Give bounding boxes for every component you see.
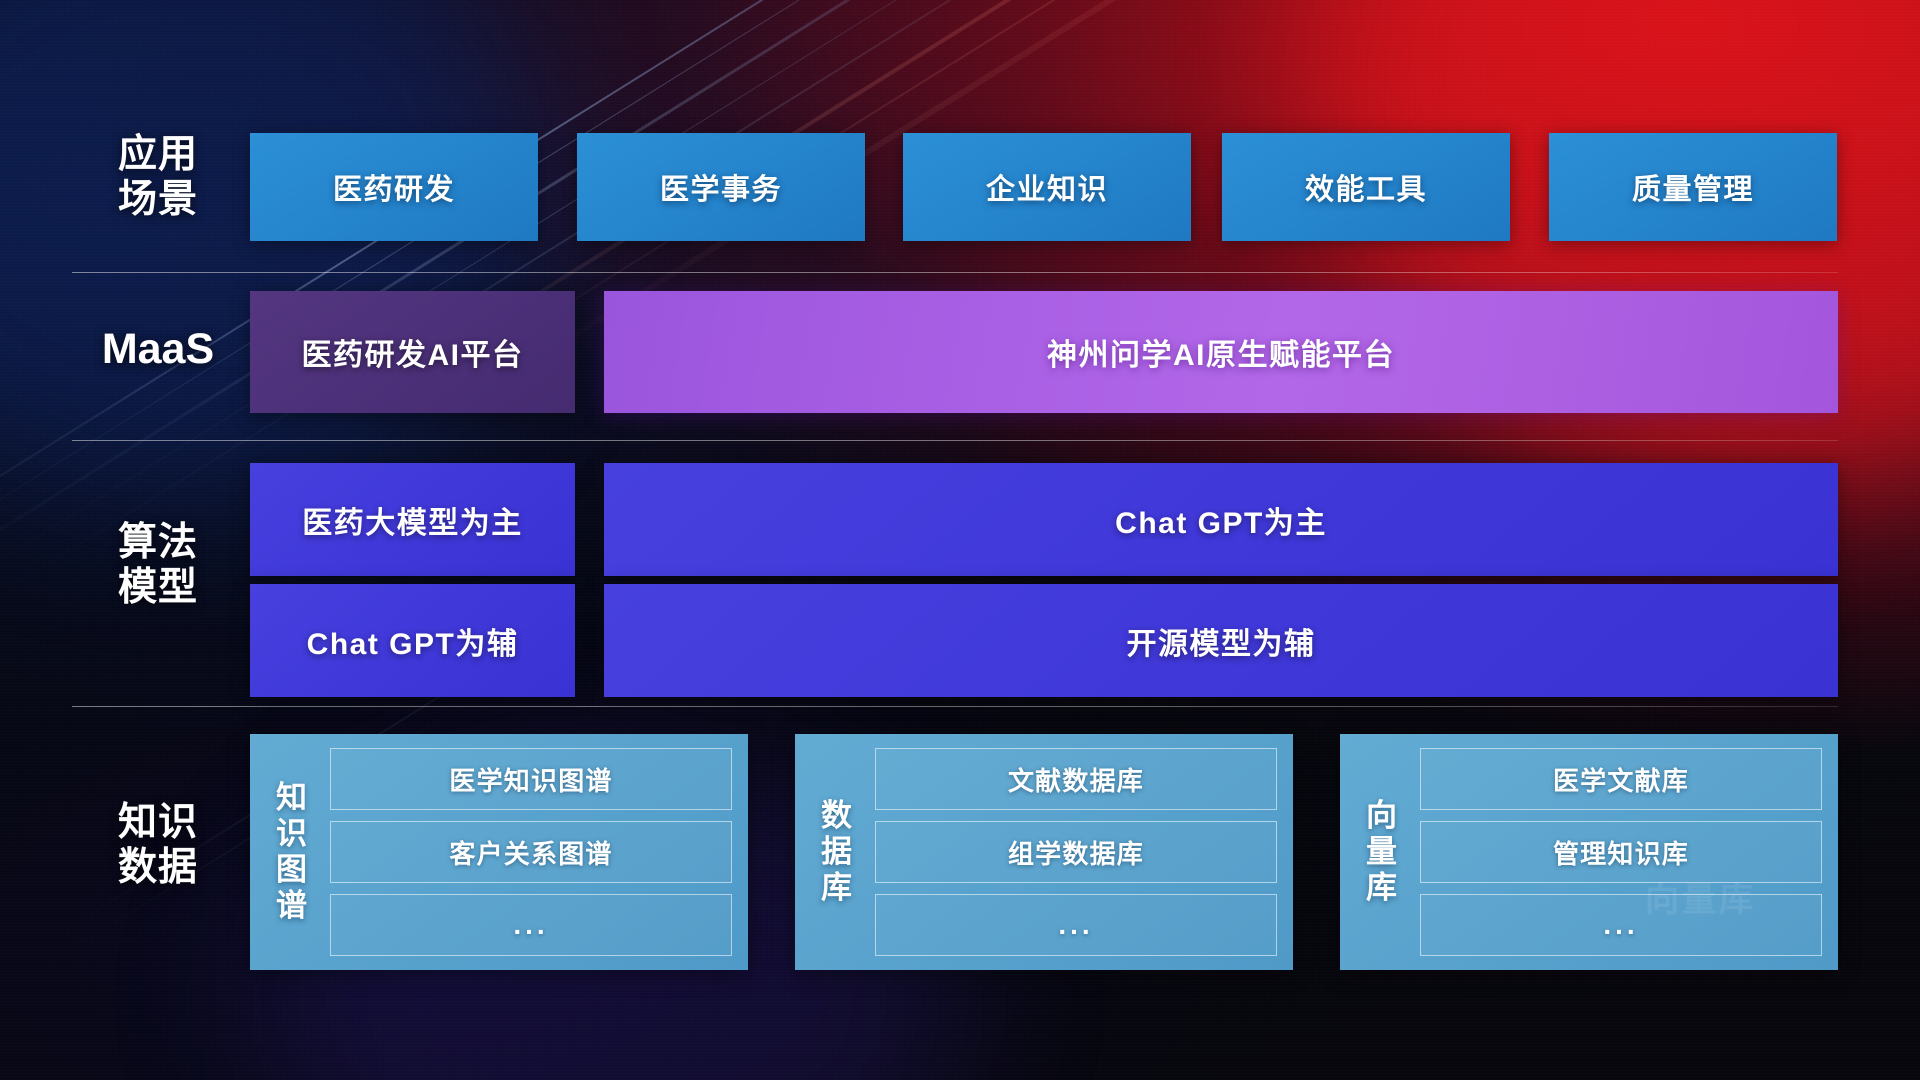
vlabel-char: 谱 [276,888,308,924]
algo-card-secondary-wide[interactable]: 开源模型为辅 [604,584,1838,697]
row-label-application-line1: 应用 [78,132,238,177]
knowledge-item-more[interactable]: ... [1420,894,1822,956]
row-label-application: 应用 场景 [78,132,238,222]
vlabel-char: 知 [276,780,308,816]
row-label-knowledge-line1: 知识 [78,800,238,845]
row-label-knowledge: 知识 数据 [78,800,238,890]
vlabel-char: 图 [276,852,308,888]
knowledge-panel-vector[interactable]: 向 量 库 医学文献库 管理知识库 ... [1340,734,1838,970]
app-card-1[interactable]: 医药研发 [250,133,538,241]
app-card-4[interactable]: 效能工具 [1222,133,1510,241]
vlabel-char: 向 [1366,798,1398,834]
vlabel-char: 据 [821,834,853,870]
app-card-3[interactable]: 企业知识 [903,133,1191,241]
algo-card-primary-wide[interactable]: Chat GPT为主 [604,463,1838,576]
maas-platform-card[interactable]: 医药研发AI平台 [250,291,575,413]
knowledge-item[interactable]: 客户关系图谱 [330,821,732,883]
knowledge-panel-vector-items: 医学文献库 管理知识库 ... [1414,748,1822,956]
knowledge-item-more[interactable]: ... [875,894,1277,956]
knowledge-panel-database-label: 数 据 库 [805,798,869,906]
algo-card-primary-left[interactable]: 医药大模型为主 [250,463,575,576]
vlabel-char: 识 [276,816,308,852]
knowledge-panel-graph[interactable]: 知 识 图 谱 医学知识图谱 客户关系图谱 ... [250,734,748,970]
knowledge-item-more[interactable]: ... [330,894,732,956]
app-card-2[interactable]: 医学事务 [577,133,865,241]
architecture-diagram-canvas: 应用 场景 医药研发 医学事务 企业知识 效能工具 质量管理 MaaS 医药研发… [0,0,1920,1080]
row-label-algorithm-line1: 算法 [78,520,238,565]
knowledge-panel-graph-items: 医学知识图谱 客户关系图谱 ... [324,748,732,956]
app-card-5[interactable]: 质量管理 [1549,133,1837,241]
knowledge-item[interactable]: 组学数据库 [875,821,1277,883]
row-divider-3 [72,706,1838,707]
row-label-knowledge-line2: 数据 [78,845,238,890]
knowledge-panel-graph-label: 知 识 图 谱 [260,780,324,924]
algo-card-secondary-left[interactable]: Chat GPT为辅 [250,584,575,697]
knowledge-item[interactable]: 文献数据库 [875,748,1277,810]
vlabel-char: 库 [1366,870,1398,906]
row-label-algorithm-line2: 模型 [78,565,238,610]
knowledge-panel-database[interactable]: 数 据 库 文献数据库 组学数据库 ... [795,734,1293,970]
row-divider-2 [72,440,1838,441]
knowledge-panel-vector-label: 向 量 库 [1350,798,1414,906]
knowledge-item[interactable]: 管理知识库 [1420,821,1822,883]
vlabel-char: 库 [821,870,853,906]
knowledge-panel-database-items: 文献数据库 组学数据库 ... [869,748,1277,956]
row-label-application-line2: 场景 [78,177,238,222]
row-label-algorithm: 算法 模型 [78,520,238,610]
vlabel-char: 数 [821,798,853,834]
row-divider-1 [72,272,1838,273]
knowledge-item[interactable]: 医学文献库 [1420,748,1822,810]
vlabel-char: 量 [1366,834,1398,870]
maas-wide-platform-card[interactable]: 神州问学AI原生赋能平台 [604,291,1838,413]
knowledge-item[interactable]: 医学知识图谱 [330,748,732,810]
row-label-maas: MaaS [78,325,238,375]
